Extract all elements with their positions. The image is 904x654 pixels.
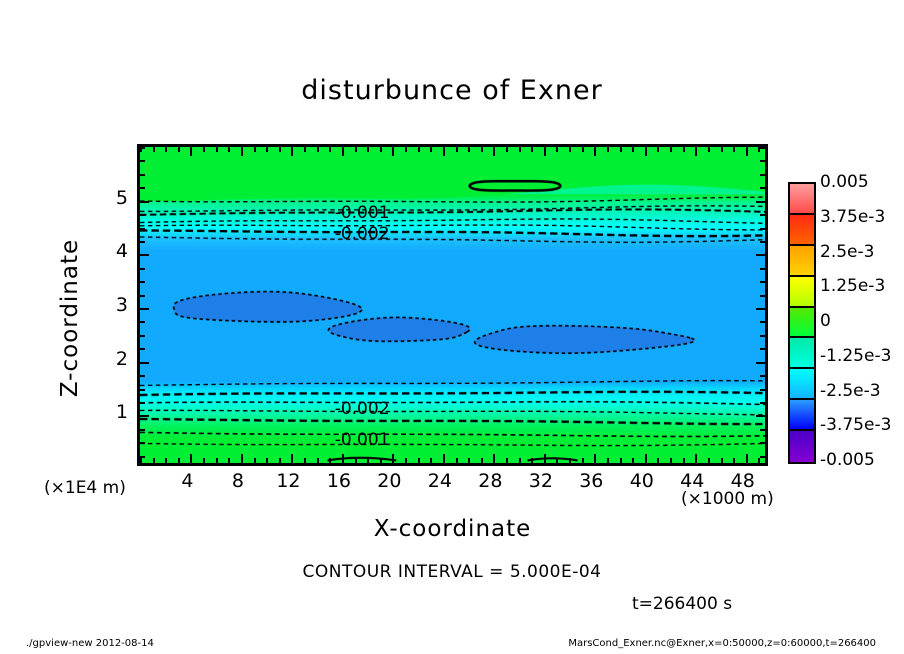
y-axis-tick bbox=[140, 187, 145, 189]
x-axis-tick bbox=[506, 458, 508, 463]
colorbar-band bbox=[790, 308, 814, 339]
x-axis-tick bbox=[519, 458, 521, 463]
y-axis-tick bbox=[140, 442, 145, 444]
y-axis-tick-right bbox=[760, 335, 765, 337]
y-axis-tick-right bbox=[760, 174, 765, 176]
footer-dataset-info: MarsCond_Exner.nc@Exner,x=0:50000,z=0:60… bbox=[568, 638, 876, 649]
x-axis-tick bbox=[607, 458, 609, 463]
x-axis-tick-top bbox=[481, 147, 483, 152]
x-axis-tick-top bbox=[291, 147, 293, 156]
y-axis-tick bbox=[140, 295, 145, 297]
x-axis-tick bbox=[695, 454, 697, 463]
x-axis-tick-label: 40 bbox=[630, 470, 654, 492]
x-axis-tick-top bbox=[241, 147, 243, 156]
contour-interval-note: CONTOUR INTERVAL = 5.000E-04 bbox=[0, 562, 904, 582]
colorbar-band bbox=[790, 215, 814, 246]
x-axis-tick-top bbox=[746, 147, 748, 156]
x-axis-tick bbox=[657, 458, 659, 463]
x-axis-tick-top bbox=[329, 147, 331, 152]
y-axis-tick-right bbox=[760, 160, 765, 162]
x-axis-tick-top bbox=[695, 147, 697, 156]
y-axis-tick bbox=[140, 201, 149, 203]
colorbar-band bbox=[790, 338, 814, 369]
contour-value-label: -0.001 bbox=[335, 203, 390, 223]
y-axis-tick bbox=[140, 147, 145, 149]
x-axis-tick-top bbox=[380, 147, 382, 152]
x-axis-tick bbox=[456, 458, 458, 463]
y-axis-tick-right bbox=[760, 295, 765, 297]
y-axis-tick bbox=[140, 429, 145, 431]
x-axis-tick bbox=[582, 458, 584, 463]
x-axis-tick bbox=[291, 454, 293, 463]
x-axis-tick-top bbox=[519, 147, 521, 152]
y-axis-tick bbox=[140, 174, 145, 176]
y-axis-title: Z-coordinate bbox=[57, 188, 83, 448]
y-axis-tick-right bbox=[756, 415, 765, 417]
y-axis-tick-right bbox=[760, 281, 765, 283]
x-axis-tick bbox=[468, 458, 470, 463]
y-axis-tick-right bbox=[760, 214, 765, 216]
x-axis-tick bbox=[405, 458, 407, 463]
colorbar-band bbox=[790, 431, 814, 462]
colorbar-tick-label: 0 bbox=[820, 311, 831, 331]
colorbar bbox=[788, 182, 816, 464]
y-axis-tick bbox=[140, 308, 149, 310]
x-axis-tick bbox=[380, 458, 382, 463]
y-axis-tick-right bbox=[760, 268, 765, 270]
contour-field-canvas bbox=[140, 147, 765, 463]
x-axis-tick bbox=[190, 454, 192, 463]
time-annotation: t=266400 s bbox=[632, 594, 732, 614]
x-axis-tick-top bbox=[708, 147, 710, 152]
y-axis-tick-right bbox=[760, 187, 765, 189]
x-axis-tick bbox=[594, 454, 596, 463]
x-axis-tick-top bbox=[657, 147, 659, 152]
x-axis-tick-top bbox=[493, 147, 495, 156]
x-axis-tick-top bbox=[279, 147, 281, 152]
y-axis-tick bbox=[140, 160, 145, 162]
x-axis-tick-label: 8 bbox=[232, 470, 244, 492]
x-axis-tick-top bbox=[304, 147, 306, 152]
x-axis-tick-top bbox=[632, 147, 634, 152]
colorbar-tick-label: -0.005 bbox=[820, 450, 875, 470]
x-axis-tick-label: 4 bbox=[181, 470, 193, 492]
x-axis-tick-top bbox=[190, 147, 192, 156]
x-axis-tick-top bbox=[430, 147, 432, 152]
colorbar-band bbox=[790, 400, 814, 431]
colorbar-tick-label: 2.5e-3 bbox=[820, 242, 874, 262]
y-axis-tick-label: 2 bbox=[116, 348, 128, 370]
y-axis-tick bbox=[140, 375, 145, 377]
contour-value-label: -0.002 bbox=[335, 224, 390, 244]
x-axis-tick bbox=[178, 458, 180, 463]
x-axis-tick-top bbox=[153, 147, 155, 152]
x-axis-tick-top bbox=[418, 147, 420, 152]
x-axis-tick bbox=[279, 458, 281, 463]
y-axis-tick bbox=[140, 228, 145, 230]
y-axis-tick-right bbox=[760, 442, 765, 444]
y-axis-tick bbox=[140, 268, 145, 270]
x-axis-tick-top bbox=[228, 147, 230, 152]
x-axis-tick-top bbox=[317, 147, 319, 152]
y-axis-tick bbox=[140, 456, 145, 458]
x-axis-tick-top bbox=[506, 147, 508, 152]
x-axis-tick bbox=[203, 458, 205, 463]
colorbar-tick-label: -1.25e-3 bbox=[820, 346, 891, 366]
y-axis-tick-right bbox=[760, 241, 765, 243]
x-axis-tick-top bbox=[569, 147, 571, 152]
y-axis-tick-right bbox=[760, 348, 765, 350]
y-axis-tick-right bbox=[756, 362, 765, 364]
colorbar-tick-label: -3.75e-3 bbox=[820, 415, 891, 435]
colorbar-tick-label: -2.5e-3 bbox=[820, 381, 881, 401]
page-title: disturbunce of Exner bbox=[0, 75, 904, 106]
x-axis-tick bbox=[228, 458, 230, 463]
x-axis-tick bbox=[746, 454, 748, 463]
colorbar-band bbox=[790, 246, 814, 277]
x-axis-tick bbox=[443, 454, 445, 463]
y-axis-tick-label: 4 bbox=[116, 240, 128, 262]
contour-value-label: -0.002 bbox=[335, 399, 390, 419]
x-axis-tick bbox=[254, 458, 256, 463]
y-axis-tick-right bbox=[756, 201, 765, 203]
colorbar-tick-label: 0.005 bbox=[820, 172, 869, 192]
x-axis-tick-top bbox=[582, 147, 584, 152]
x-axis-tick-top bbox=[594, 147, 596, 156]
x-axis-tick bbox=[367, 458, 369, 463]
y-axis-tick-label: 3 bbox=[116, 294, 128, 316]
x-axis-tick bbox=[632, 458, 634, 463]
x-axis-tick bbox=[329, 458, 331, 463]
x-axis-tick-top bbox=[733, 147, 735, 152]
x-axis-tick-top bbox=[405, 147, 407, 152]
x-axis-tick bbox=[721, 458, 723, 463]
colorbar-tick-label: 1.25e-3 bbox=[820, 276, 885, 296]
y-axis-tick bbox=[140, 281, 145, 283]
x-axis-tick bbox=[670, 458, 672, 463]
y-axis-tick bbox=[140, 415, 149, 417]
x-axis-tick bbox=[418, 458, 420, 463]
y-axis-tick-right bbox=[756, 254, 765, 256]
x-axis-tick-top bbox=[556, 147, 558, 152]
x-axis-tick bbox=[733, 458, 735, 463]
x-axis-tick bbox=[531, 458, 533, 463]
x-axis-tick-top bbox=[254, 147, 256, 152]
x-axis-tick-top bbox=[721, 147, 723, 152]
x-axis-tick-top bbox=[216, 147, 218, 152]
x-axis-tick-top bbox=[620, 147, 622, 152]
x-axis-tick-top bbox=[266, 147, 268, 152]
y-axis-unit-label: (×1E4 m) bbox=[44, 478, 126, 498]
x-axis-tick-top bbox=[468, 147, 470, 152]
x-axis-tick bbox=[216, 458, 218, 463]
x-axis-tick-top bbox=[456, 147, 458, 152]
x-axis-tick-top bbox=[367, 147, 369, 152]
x-axis-tick-top bbox=[178, 147, 180, 152]
x-axis-tick bbox=[165, 458, 167, 463]
y-axis-tick-right bbox=[760, 147, 765, 149]
footer-command: ./gpview-new 2012-08-14 bbox=[26, 638, 154, 649]
x-axis-tick-top bbox=[355, 147, 357, 152]
y-axis-tick-right bbox=[760, 389, 765, 391]
x-axis-tick-label: 12 bbox=[276, 470, 300, 492]
x-axis-tick-top bbox=[165, 147, 167, 152]
x-axis-tick bbox=[544, 454, 546, 463]
y-axis-tick-right bbox=[760, 456, 765, 458]
y-axis-tick-right bbox=[760, 321, 765, 323]
y-axis-tick bbox=[140, 241, 145, 243]
y-axis-tick bbox=[140, 402, 145, 404]
x-axis-tick-top bbox=[443, 147, 445, 156]
x-axis-tick bbox=[569, 458, 571, 463]
x-axis-tick bbox=[266, 458, 268, 463]
y-axis-tick-right bbox=[756, 308, 765, 310]
x-axis-tick bbox=[430, 458, 432, 463]
x-axis-tick bbox=[620, 458, 622, 463]
y-axis-tick-label: 1 bbox=[116, 401, 128, 423]
y-axis-tick bbox=[140, 362, 149, 364]
x-axis-tick bbox=[683, 458, 685, 463]
x-axis-tick-top bbox=[645, 147, 647, 156]
y-axis-tick-right bbox=[760, 402, 765, 404]
x-axis-tick bbox=[241, 454, 243, 463]
colorbar-band bbox=[790, 184, 814, 215]
x-axis-tick-label: 20 bbox=[377, 470, 401, 492]
x-axis-tick bbox=[317, 458, 319, 463]
y-axis-tick-right bbox=[760, 429, 765, 431]
x-axis-tick-top bbox=[670, 147, 672, 152]
x-axis-tick-label: 24 bbox=[428, 470, 452, 492]
x-axis-title: X-coordinate bbox=[137, 516, 768, 542]
x-axis-tick bbox=[481, 458, 483, 463]
x-axis-tick bbox=[708, 458, 710, 463]
y-axis-tick bbox=[140, 214, 145, 216]
x-axis-tick-top bbox=[392, 147, 394, 156]
y-axis-tick-label: 5 bbox=[116, 187, 128, 209]
x-axis-tick bbox=[493, 454, 495, 463]
y-axis-tick-right bbox=[760, 228, 765, 230]
x-axis-tick bbox=[153, 458, 155, 463]
x-axis-tick-label: 28 bbox=[478, 470, 502, 492]
x-axis-tick bbox=[392, 454, 394, 463]
colorbar-band bbox=[790, 277, 814, 308]
x-axis-tick-top bbox=[544, 147, 546, 156]
x-axis-tick-top bbox=[203, 147, 205, 152]
x-axis-tick-label: 36 bbox=[579, 470, 603, 492]
y-axis-tick bbox=[140, 321, 145, 323]
x-axis-tick bbox=[556, 458, 558, 463]
x-axis-tick-top bbox=[531, 147, 533, 152]
y-axis-tick-right bbox=[760, 375, 765, 377]
x-axis-tick bbox=[758, 458, 760, 463]
colorbar-tick-label: 3.75e-3 bbox=[820, 207, 885, 227]
y-axis-tick bbox=[140, 335, 145, 337]
y-axis-tick bbox=[140, 389, 145, 391]
x-axis-tick-top bbox=[342, 147, 344, 156]
contour-plot-area: -0.001-0.002-0.002-0.001 bbox=[137, 144, 768, 466]
x-axis-tick-top bbox=[607, 147, 609, 152]
x-axis-tick bbox=[355, 458, 357, 463]
x-axis-tick-label: 16 bbox=[327, 470, 351, 492]
x-axis-tick bbox=[645, 454, 647, 463]
colorbar-band bbox=[790, 369, 814, 400]
x-axis-tick-top bbox=[683, 147, 685, 152]
x-axis-unit-label: (×1000 m) bbox=[681, 489, 774, 509]
x-axis-tick-label: 32 bbox=[529, 470, 553, 492]
contour-value-label: -0.001 bbox=[335, 430, 390, 450]
x-axis-tick bbox=[140, 458, 142, 463]
y-axis-tick bbox=[140, 348, 145, 350]
x-axis-tick bbox=[304, 458, 306, 463]
x-axis-tick bbox=[342, 454, 344, 463]
y-axis-tick bbox=[140, 254, 149, 256]
